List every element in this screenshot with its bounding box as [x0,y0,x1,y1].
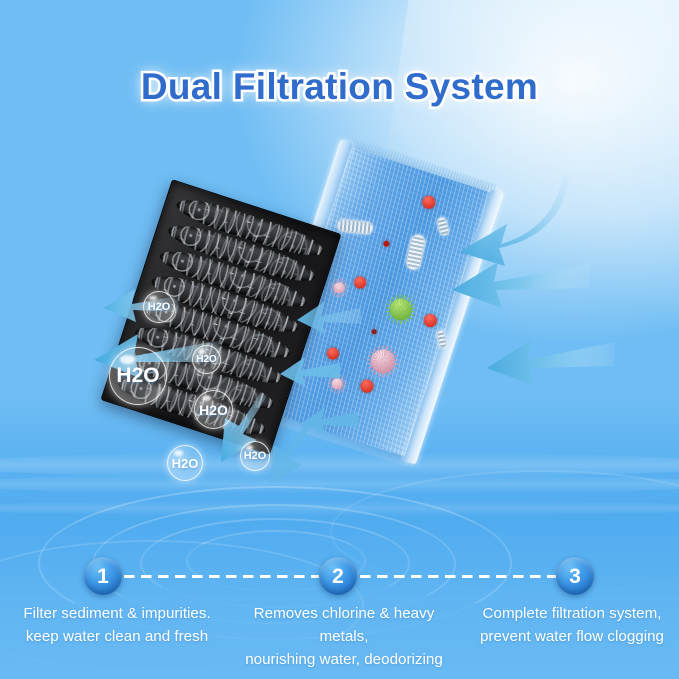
inflow-arrow-lower [485,338,615,394]
h2o-bubble: H2O [167,445,203,481]
inflow-arrow-curved [449,172,569,267]
step-caption-1: Filter sediment & impurities. keep water… [8,602,226,648]
step-caption-line: nourishing water, deodorizing [228,648,460,671]
step-badge-2[interactable]: 2 [319,557,357,595]
step-badge-3[interactable]: 3 [556,557,594,595]
step-caption-line: Removes chlorine & heavy metals, [228,602,460,648]
step-caption-line: prevent water flow clogging [468,625,676,648]
step-caption-2: Removes chlorine & heavy metals, nourish… [228,602,460,671]
h2o-bubble: H2O [192,345,221,374]
step-caption-line: Complete filtration system, [468,602,676,625]
steps-section: 1 2 3 Filter sediment & impurities. keep… [0,556,679,679]
page-title: Dual Filtration System [0,66,679,108]
infographic-canvas: Dual Filtration System [0,0,679,679]
internal-arrow-upper [295,300,361,340]
h2o-bubble: H2O [143,291,175,323]
h2o-bubble: H2O [240,441,270,471]
internal-arrow-middle [278,355,340,393]
step-badge-1[interactable]: 1 [84,557,122,595]
step-caption-line: keep water clean and fresh [8,625,226,648]
step-caption-line: Filter sediment & impurities. [8,602,226,625]
step-connector-1-2 [124,575,320,578]
inflow-arrow-middle [450,258,590,316]
h2o-bubble: H2O [194,390,233,429]
step-connector-2-3 [360,575,556,578]
step-caption-3: Complete filtration system, prevent wate… [468,602,676,648]
h2o-bubble: H2O [109,347,167,405]
